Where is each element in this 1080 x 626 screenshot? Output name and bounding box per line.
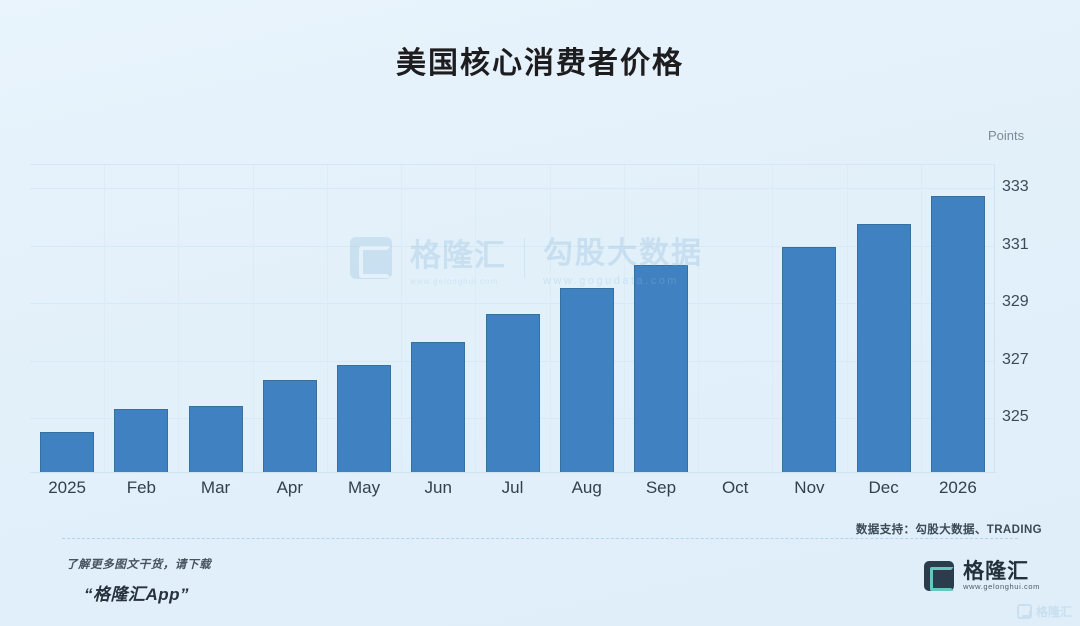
y-axis-tick-label: 325	[1002, 408, 1029, 426]
bar-Sep[interactable]	[634, 265, 688, 472]
vertical-gridline	[772, 165, 773, 473]
vertical-gridline	[327, 165, 328, 473]
x-axis-tick-label: 2026	[939, 478, 977, 498]
promo-line-1: 了解更多图文干货，请下载	[66, 556, 211, 572]
bar-Apr[interactable]	[263, 380, 317, 472]
vertical-gridline	[921, 165, 922, 473]
gridline	[30, 246, 994, 247]
vertical-gridline	[475, 165, 476, 473]
x-axis-tick-label: Aug	[572, 478, 602, 498]
bar-2026[interactable]	[931, 196, 985, 472]
footer-logo-url: www.gelonghui.com	[963, 583, 1040, 591]
gelonghui-logo-icon	[924, 561, 954, 591]
x-axis-tick-label: Feb	[127, 478, 156, 498]
bar-Jun[interactable]	[411, 342, 465, 472]
bar-Mar[interactable]	[189, 406, 243, 472]
footer-logo: 格隆汇 www.gelonghui.com	[924, 560, 1040, 591]
vertical-gridline	[401, 165, 402, 473]
x-axis-tick-label: May	[348, 478, 380, 498]
vertical-gridline	[624, 165, 625, 473]
source-note: 数据支持：勾股大数据、TRADING	[856, 521, 1042, 537]
x-axis-tick-label: Nov	[794, 478, 824, 498]
chart-canvas: 美国核心消费者价格 Points 325327329331333 2025Feb…	[0, 0, 1080, 626]
footer-logo-brand: 格隆汇	[963, 560, 1040, 583]
vertical-gridline	[253, 165, 254, 473]
vertical-gridline	[104, 165, 105, 473]
y-axis-tick-label: 333	[1002, 178, 1029, 196]
vertical-gridline	[178, 165, 179, 473]
bar-May[interactable]	[337, 365, 391, 472]
bar-Aug[interactable]	[560, 288, 614, 472]
vertical-gridline	[847, 165, 848, 473]
gelonghui-watermark-icon	[1017, 604, 1032, 619]
vertical-gridline	[698, 165, 699, 473]
x-axis-tick-label: Oct	[722, 478, 748, 498]
gridline	[30, 188, 994, 189]
y-axis-tick-label: 329	[1002, 293, 1029, 311]
promo-line-2: “格隆汇App”	[84, 580, 211, 605]
y-axis-tick-label: 327	[1002, 351, 1029, 369]
footer-divider	[62, 538, 1018, 539]
x-axis-tick-label: Jun	[425, 478, 452, 498]
bar-2025[interactable]	[40, 432, 94, 472]
y-axis-unit-label: Points	[988, 128, 1024, 143]
bar-Nov[interactable]	[782, 247, 836, 472]
x-axis-tick-label: Sep	[646, 478, 676, 498]
bar-Feb[interactable]	[114, 409, 168, 472]
x-axis-tick-label: Mar	[201, 478, 230, 498]
promo-block: 了解更多图文干货，请下载 “格隆汇App”	[66, 556, 211, 605]
page-title: 美国核心消费者价格	[0, 38, 1080, 82]
x-axis-tick-label: Apr	[277, 478, 303, 498]
gridline	[30, 303, 994, 304]
corner-watermark-label: 格隆汇	[1036, 603, 1072, 620]
vertical-gridline	[550, 165, 551, 473]
bar-Jul[interactable]	[486, 314, 540, 472]
x-axis-tick-label: 2025	[48, 478, 86, 498]
x-axis-tick-label: Dec	[869, 478, 899, 498]
y-axis-tick-label: 331	[1002, 236, 1029, 254]
x-axis-tick-label: Jul	[502, 478, 524, 498]
corner-watermark: 格隆汇	[1017, 603, 1072, 620]
x-axis-baseline	[30, 472, 996, 473]
bar-Dec[interactable]	[857, 224, 911, 472]
